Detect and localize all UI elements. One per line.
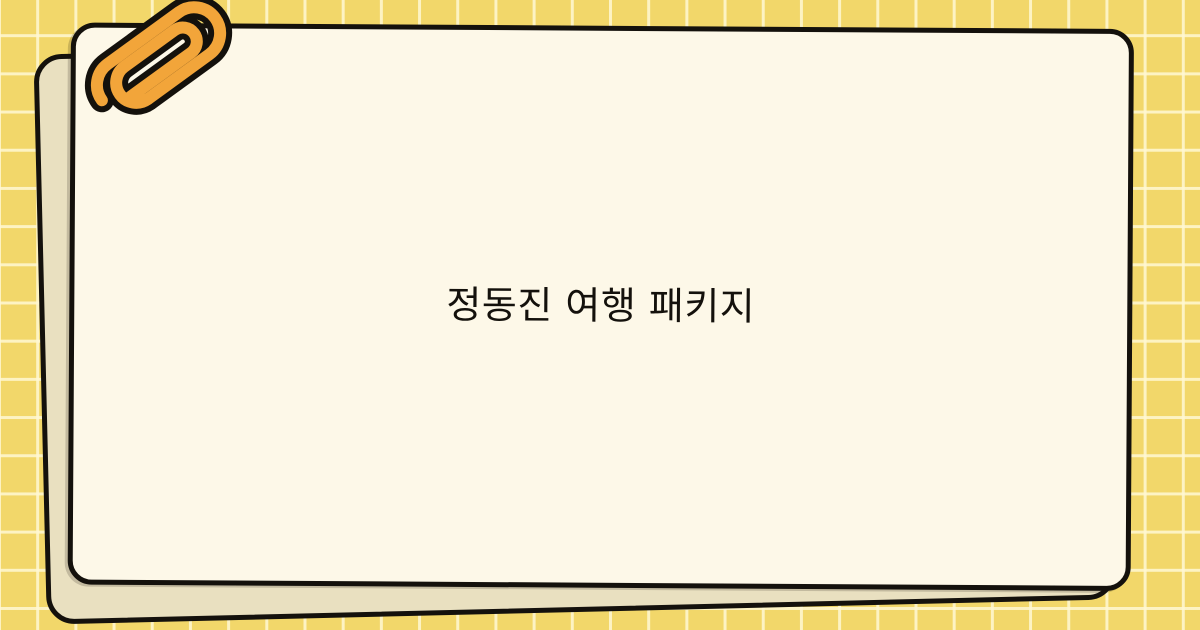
page-title: 정동진 여행 패키지 xyxy=(446,280,755,333)
paperclip-icon[interactable] xyxy=(55,0,270,146)
poster-canvas: 정동진 여행 패키지 xyxy=(0,0,1200,630)
